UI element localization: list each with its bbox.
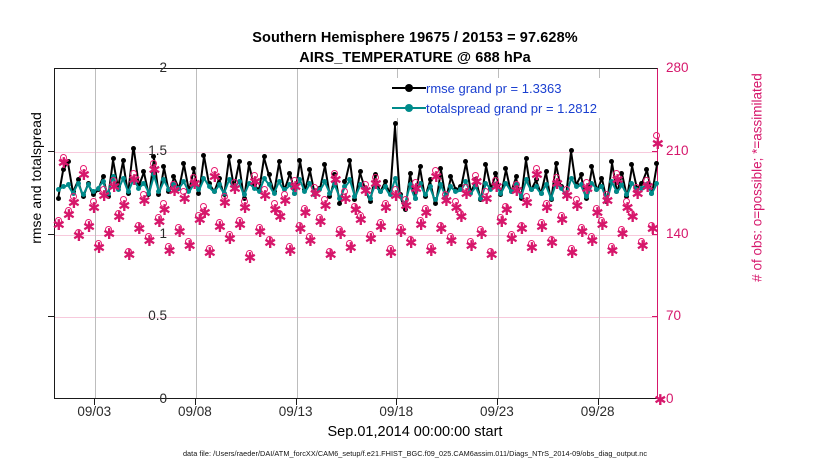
obs-assimilated-marker: ✱	[445, 236, 456, 247]
x-tick-mark	[94, 399, 95, 405]
series-data-point	[654, 181, 659, 186]
series-data-point	[247, 161, 252, 166]
obs-assimilated-marker: ✱	[425, 246, 436, 257]
legend-marker-sample	[392, 98, 426, 118]
obs-assimilated-marker: ✱	[370, 179, 381, 190]
series-data-point	[483, 162, 488, 167]
series-data-point	[544, 169, 549, 174]
y-tick-label-left: 1.5	[107, 143, 167, 158]
series-data-point	[181, 161, 186, 166]
series-data-point	[66, 182, 71, 187]
x-tick-label: 09/03	[59, 404, 129, 419]
y-tick-label-right: 280	[666, 60, 726, 75]
obs-assimilated-marker: ✱	[289, 182, 300, 193]
obs-assimilated-marker: ✱	[400, 201, 411, 212]
series-data-point	[393, 121, 398, 126]
obs-assimilated-marker: ✱	[224, 234, 235, 245]
obs-assimilated-marker: ✱	[173, 227, 184, 238]
obs-assimilated-marker: ✱	[641, 182, 652, 193]
y-tick-mark-right	[652, 234, 658, 235]
obs-assimilated-marker: ✱	[118, 201, 129, 212]
series-data-point	[201, 153, 206, 158]
chart-legend: rmse grand pr = 1.3363totalspread grand …	[392, 78, 638, 118]
y-tick-mark-left	[48, 151, 54, 152]
obs-assimilated-marker: ✱	[324, 250, 335, 261]
series-data-point	[644, 167, 649, 172]
obs-assimilated-marker: ✱	[606, 246, 617, 257]
y-axis-label-left: rmse and totalspread	[28, 38, 44, 318]
obs-assimilated-marker: ✱	[204, 248, 215, 259]
obs-assimilated-marker: ✱	[299, 208, 310, 219]
series-data-point	[347, 158, 352, 163]
obs-assimilated-marker: ✱	[405, 238, 416, 249]
obs-assimilated-marker: ✱	[616, 229, 627, 240]
series-data-point	[277, 159, 282, 164]
obs-assimilated-marker: ✱	[355, 215, 366, 226]
obs-assimilated-marker: ✱	[138, 196, 149, 207]
series-data-point	[161, 164, 166, 169]
obs-assimilated-marker: ✱	[319, 201, 330, 212]
series-data-point	[81, 192, 86, 197]
series-data-point	[503, 166, 508, 171]
series-data-point	[599, 176, 604, 181]
x-tick-mark	[598, 399, 599, 405]
y-tick-label-left: 0.5	[107, 308, 167, 323]
legend-label: rmse grand pr = 1.3363	[426, 81, 562, 96]
x-tick-label: 09/13	[261, 404, 331, 419]
obs-assimilated-marker: ✱	[329, 175, 340, 186]
obs-assimilated-marker: ✱	[506, 234, 517, 245]
obs-assimilated-marker: ✱	[410, 184, 421, 195]
obs-assimilated-marker: ✱	[188, 179, 199, 190]
series-data-point	[126, 189, 131, 194]
series-data-point	[534, 184, 539, 189]
x-tick-label: 09/08	[160, 404, 230, 419]
series-data-point	[463, 159, 468, 164]
x-tick-label: 09/23	[462, 404, 532, 419]
series-data-point	[307, 167, 312, 172]
x-tick-mark	[396, 399, 397, 405]
x-axis-label: Sep.01,2014 00:00:00 start	[0, 424, 830, 440]
obs-assimilated-marker: ✱	[430, 172, 441, 183]
y-tick-label-right: 0	[666, 391, 726, 406]
obs-assimilated-marker: ✱	[314, 217, 325, 228]
obs-assimilated-marker: ✱	[485, 250, 496, 261]
chart-canvas: Southern Hemisphere 19675 / 20153 = 97.6…	[0, 0, 830, 470]
series-data-point	[327, 191, 332, 196]
x-tick-mark	[296, 399, 297, 405]
obs-assimilated-marker: ✱	[73, 231, 84, 242]
obs-assimilated-marker: ✱	[209, 172, 220, 183]
obs-assimilated-marker: ✱	[365, 234, 376, 245]
obs-assimilated-marker: ✱	[58, 158, 69, 169]
legend-dot-icon	[405, 84, 413, 92]
obs-assimilated-marker: ✱	[626, 212, 637, 223]
obs-assimilated-marker: ✱	[385, 248, 396, 259]
series-data-point	[267, 172, 272, 177]
series-data-point	[277, 179, 282, 184]
obs-assimilated-marker: ✱	[651, 139, 662, 150]
series-data-point	[121, 158, 126, 163]
series-data-point	[654, 161, 659, 166]
obs-assimilated-marker: ✱	[475, 229, 486, 240]
series-data-point	[524, 156, 529, 161]
x-tick-mark	[497, 399, 498, 405]
obs-assimilated-marker: ✱	[556, 215, 567, 226]
obs-assimilated-marker: ✱	[521, 198, 532, 209]
obs-assimilated-marker: ✱	[420, 208, 431, 219]
y-tick-label-right: 140	[666, 226, 726, 241]
obs-assimilated-marker: ✱	[470, 177, 481, 188]
obs-assimilated-marker: ✱	[596, 220, 607, 231]
series-data-point	[212, 189, 217, 194]
series-data-point	[629, 162, 634, 167]
obs-assimilated-marker: ✱	[183, 241, 194, 252]
series-data-point	[272, 191, 277, 196]
series-data-point	[227, 154, 232, 159]
y-tick-label-right: 70	[666, 308, 726, 323]
series-data-point	[302, 189, 307, 194]
vertical-gridline	[498, 69, 499, 398]
y-tick-mark-left	[48, 234, 54, 235]
obs-assimilated-marker: ✱	[128, 175, 139, 186]
series-data-point	[514, 174, 519, 179]
series-data-point	[101, 179, 106, 184]
legend-item-1: totalspread grand pr = 1.2812	[392, 98, 638, 118]
obs-assimilated-marker: ✱	[375, 222, 386, 233]
series-data-point	[262, 176, 267, 181]
series-data-point	[322, 162, 327, 167]
zero-obs-asterisk-marker: ✱	[654, 395, 665, 406]
obs-assimilated-marker: ✱	[123, 250, 134, 261]
y-tick-label-right: 210	[666, 143, 726, 158]
obs-assimilated-marker: ✱	[158, 205, 169, 216]
obs-assimilated-marker: ✱	[279, 196, 290, 207]
obs-assimilated-marker: ✱	[108, 182, 119, 193]
legend-marker-sample	[392, 78, 426, 98]
obs-assimilated-marker: ✱	[546, 238, 557, 249]
y-axis-label-right: # of obs: o=possible; *=assimilated	[750, 13, 765, 343]
obs-assimilated-marker: ✱	[53, 220, 64, 231]
obs-assimilated-marker: ✱	[93, 243, 104, 254]
obs-assimilated-marker: ✱	[264, 238, 275, 249]
x-tick-mark	[195, 399, 196, 405]
series-data-point	[579, 172, 584, 177]
series-data-point	[287, 171, 292, 176]
data-file-footer: data file: /Users/raeder/DAI/ATM_forcXX/…	[0, 449, 830, 458]
obs-assimilated-marker: ✱	[219, 198, 230, 209]
y-tick-mark-left	[48, 316, 54, 317]
legend-dot-icon	[405, 104, 413, 112]
vertical-gridline	[196, 69, 197, 398]
series-data-point	[91, 189, 96, 194]
obs-assimilated-marker: ✱	[566, 248, 577, 259]
obs-assimilated-marker: ✱	[78, 170, 89, 181]
obs-assimilated-marker: ✱	[148, 165, 159, 176]
obs-assimilated-marker: ✱	[586, 236, 597, 247]
vertical-gridline	[95, 69, 96, 398]
obs-assimilated-marker: ✱	[636, 241, 647, 252]
series-data-point	[121, 176, 126, 181]
obs-assimilated-marker: ✱	[274, 212, 285, 223]
series-data-point	[237, 159, 242, 164]
obs-assimilated-marker: ✱	[178, 194, 189, 205]
y-tick-mark-right	[652, 316, 658, 317]
obs-assimilated-marker: ✱	[571, 201, 582, 212]
series-data-point	[358, 169, 363, 174]
obs-assimilated-marker: ✱	[541, 203, 552, 214]
obs-assimilated-marker: ✱	[214, 222, 225, 233]
title-line-1: Southern Hemisphere 19675 / 20153 = 97.6…	[0, 28, 830, 48]
series-data-point	[393, 176, 398, 181]
obs-assimilated-marker: ✱	[516, 224, 527, 235]
series-data-point	[262, 154, 267, 159]
obs-assimilated-marker: ✱	[611, 175, 622, 186]
obs-assimilated-marker: ✱	[536, 222, 547, 233]
obs-assimilated-marker: ✱	[455, 212, 466, 223]
series-data-point	[614, 189, 619, 194]
obs-assimilated-marker: ✱	[601, 196, 612, 207]
y-tick-label-left: 1	[107, 226, 167, 241]
obs-assimilated-marker: ✱	[581, 184, 592, 195]
obs-assimilated-marker: ✱	[500, 205, 511, 216]
obs-assimilated-marker: ✱	[511, 186, 522, 197]
series-data-point	[609, 159, 614, 164]
series-data-point	[383, 184, 388, 189]
obs-assimilated-marker: ✱	[490, 182, 501, 193]
obs-assimilated-marker: ✱	[239, 203, 250, 214]
x-tick-label: 09/28	[563, 404, 633, 419]
series-data-point	[141, 181, 146, 186]
legend-label: totalspread grand pr = 1.2812	[426, 101, 597, 116]
series-data-point	[408, 171, 413, 176]
x-tick-label: 09/18	[361, 404, 431, 419]
obs-assimilated-marker: ✱	[229, 184, 240, 195]
obs-assimilated-marker: ✱	[234, 220, 245, 231]
obs-assimilated-marker: ✱	[83, 222, 94, 233]
series-data-point	[569, 148, 574, 153]
obs-assimilated-marker: ✱	[531, 170, 542, 181]
obs-assimilated-marker: ✱	[198, 208, 209, 219]
obs-assimilated-marker: ✱	[304, 236, 315, 247]
obs-assimilated-marker: ✱	[244, 253, 255, 264]
series-data-point	[539, 191, 544, 196]
obs-assimilated-marker: ✱	[163, 246, 174, 257]
series-data-point	[61, 184, 66, 189]
series-data-point	[554, 161, 559, 166]
series-data-point	[56, 187, 61, 192]
series-data-point	[418, 164, 423, 169]
series-data-point	[56, 196, 61, 201]
obs-assimilated-marker: ✱	[68, 198, 79, 209]
obs-assimilated-marker: ✱	[526, 243, 537, 254]
obs-assimilated-marker: ✱	[284, 246, 295, 257]
series-data-point	[569, 176, 574, 181]
obs-assimilated-marker: ✱	[344, 243, 355, 254]
series-data-point	[297, 158, 302, 163]
series-data-point	[529, 187, 534, 192]
y-tick-mark-right	[652, 151, 658, 152]
legend-item-0: rmse grand pr = 1.3363	[392, 78, 638, 98]
y-tick-label-left: 2	[107, 60, 167, 75]
